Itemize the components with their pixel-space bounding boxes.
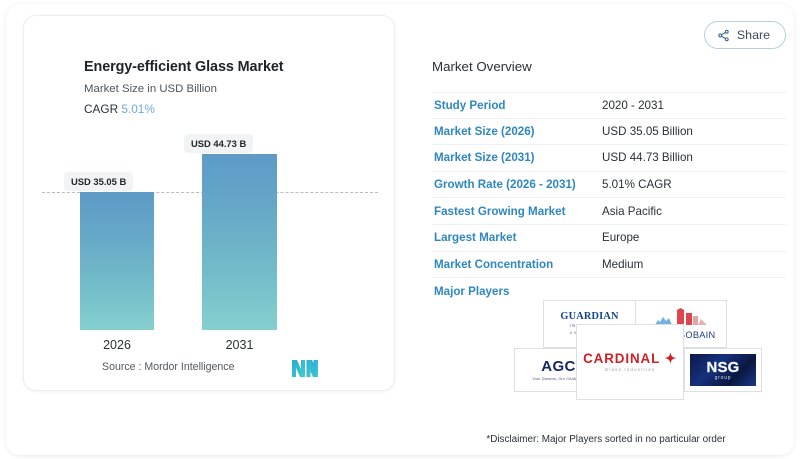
- table-row: Market Size (2031) USD 44.73 Billion: [432, 145, 786, 172]
- category-label-2031: 2031: [202, 338, 277, 352]
- category-label-2026: 2026: [80, 338, 154, 352]
- cagr-value: 5.01%: [121, 102, 154, 116]
- source-text: Source : Mordor Intelligence: [102, 361, 235, 373]
- major-players-label: Major Players: [432, 285, 602, 298]
- table-row: Fastest Growing Market Asia Pacific: [432, 198, 786, 225]
- row-value: Asia Pacific: [602, 205, 662, 218]
- saint-gobain-skyline-icon: [653, 308, 709, 325]
- bar-chart-plot: USD 35.05 B 2026 USD 44.73 B 2031: [42, 132, 378, 354]
- row-key: Market Concentration: [432, 258, 602, 271]
- nsg-wordmark: NSG: [706, 360, 739, 375]
- disclaimer-text: *Disclaimer: Major Players sorted in no …: [436, 434, 776, 445]
- table-row: Market Size (2026) USD 35.05 Billion: [432, 119, 786, 146]
- row-key: Study Period: [432, 99, 602, 112]
- market-overview-table: Study Period 2020 - 2031 Market Size (20…: [432, 92, 786, 305]
- share-icon: [717, 29, 730, 42]
- row-key: Growth Rate (2026 - 2031): [432, 178, 602, 191]
- chart-card: Energy-efficient Glass Market Market Siz…: [23, 15, 395, 391]
- table-row: Largest Market Europe: [432, 225, 786, 252]
- row-key: Market Size (2031): [432, 151, 602, 164]
- bar-2026[interactable]: [80, 192, 154, 330]
- share-button-label: Share: [737, 28, 770, 42]
- cardinal-subtitle: Glass Industries: [583, 368, 677, 373]
- chart-subtitle: Market Size in USD Billion: [84, 83, 217, 95]
- row-key: Market Size (2026): [432, 125, 602, 138]
- bar-value-label-2031: USD 44.73 B: [184, 134, 253, 153]
- mordor-intelligence-logo: [292, 360, 318, 377]
- market-overview-panel: Share Market Overview Study Period 2020 …: [424, 14, 786, 449]
- row-key: Fastest Growing Market: [432, 205, 602, 218]
- guardian-wordmark: GUARDIAN: [560, 312, 618, 322]
- row-key: Largest Market: [432, 231, 602, 244]
- row-value: Medium: [602, 258, 643, 271]
- row-value: USD 35.05 Billion: [602, 125, 693, 138]
- player-logo-cardinal: CARDINAL ✦ Glass Industries: [576, 324, 684, 400]
- bar-2031[interactable]: [202, 154, 277, 330]
- player-logo-nsg: NSG group: [684, 348, 762, 392]
- cagr-label: CAGR: [84, 102, 118, 116]
- row-value: 2020 - 2031: [602, 99, 664, 112]
- market-overview-title: Market Overview: [432, 59, 532, 74]
- major-players-logos: GUARDIAN INDUSTRIES A KOCH COMPANY: [524, 300, 774, 400]
- cardinal-wordmark: CARDINAL ✦: [583, 352, 677, 365]
- row-value: USD 44.73 Billion: [602, 151, 693, 164]
- table-row: Growth Rate (2026 - 2031) 5.01% CAGR: [432, 172, 786, 199]
- chart-title: Energy-efficient Glass Market: [84, 59, 283, 75]
- chart-cagr: CAGR 5.01%: [84, 102, 155, 116]
- table-row: Market Concentration Medium: [432, 252, 786, 279]
- card-frame: Energy-efficient Glass Market Market Siz…: [6, 4, 794, 455]
- share-button[interactable]: Share: [704, 21, 786, 49]
- nsg-subtitle: group: [715, 376, 732, 381]
- bar-value-label-2026: USD 35.05 B: [64, 172, 133, 191]
- row-value: 5.01% CAGR: [602, 178, 672, 191]
- table-row: Study Period 2020 - 2031: [432, 92, 786, 119]
- row-value: Europe: [602, 231, 639, 244]
- market-snapshot-page: Energy-efficient Glass Market Market Siz…: [0, 0, 800, 459]
